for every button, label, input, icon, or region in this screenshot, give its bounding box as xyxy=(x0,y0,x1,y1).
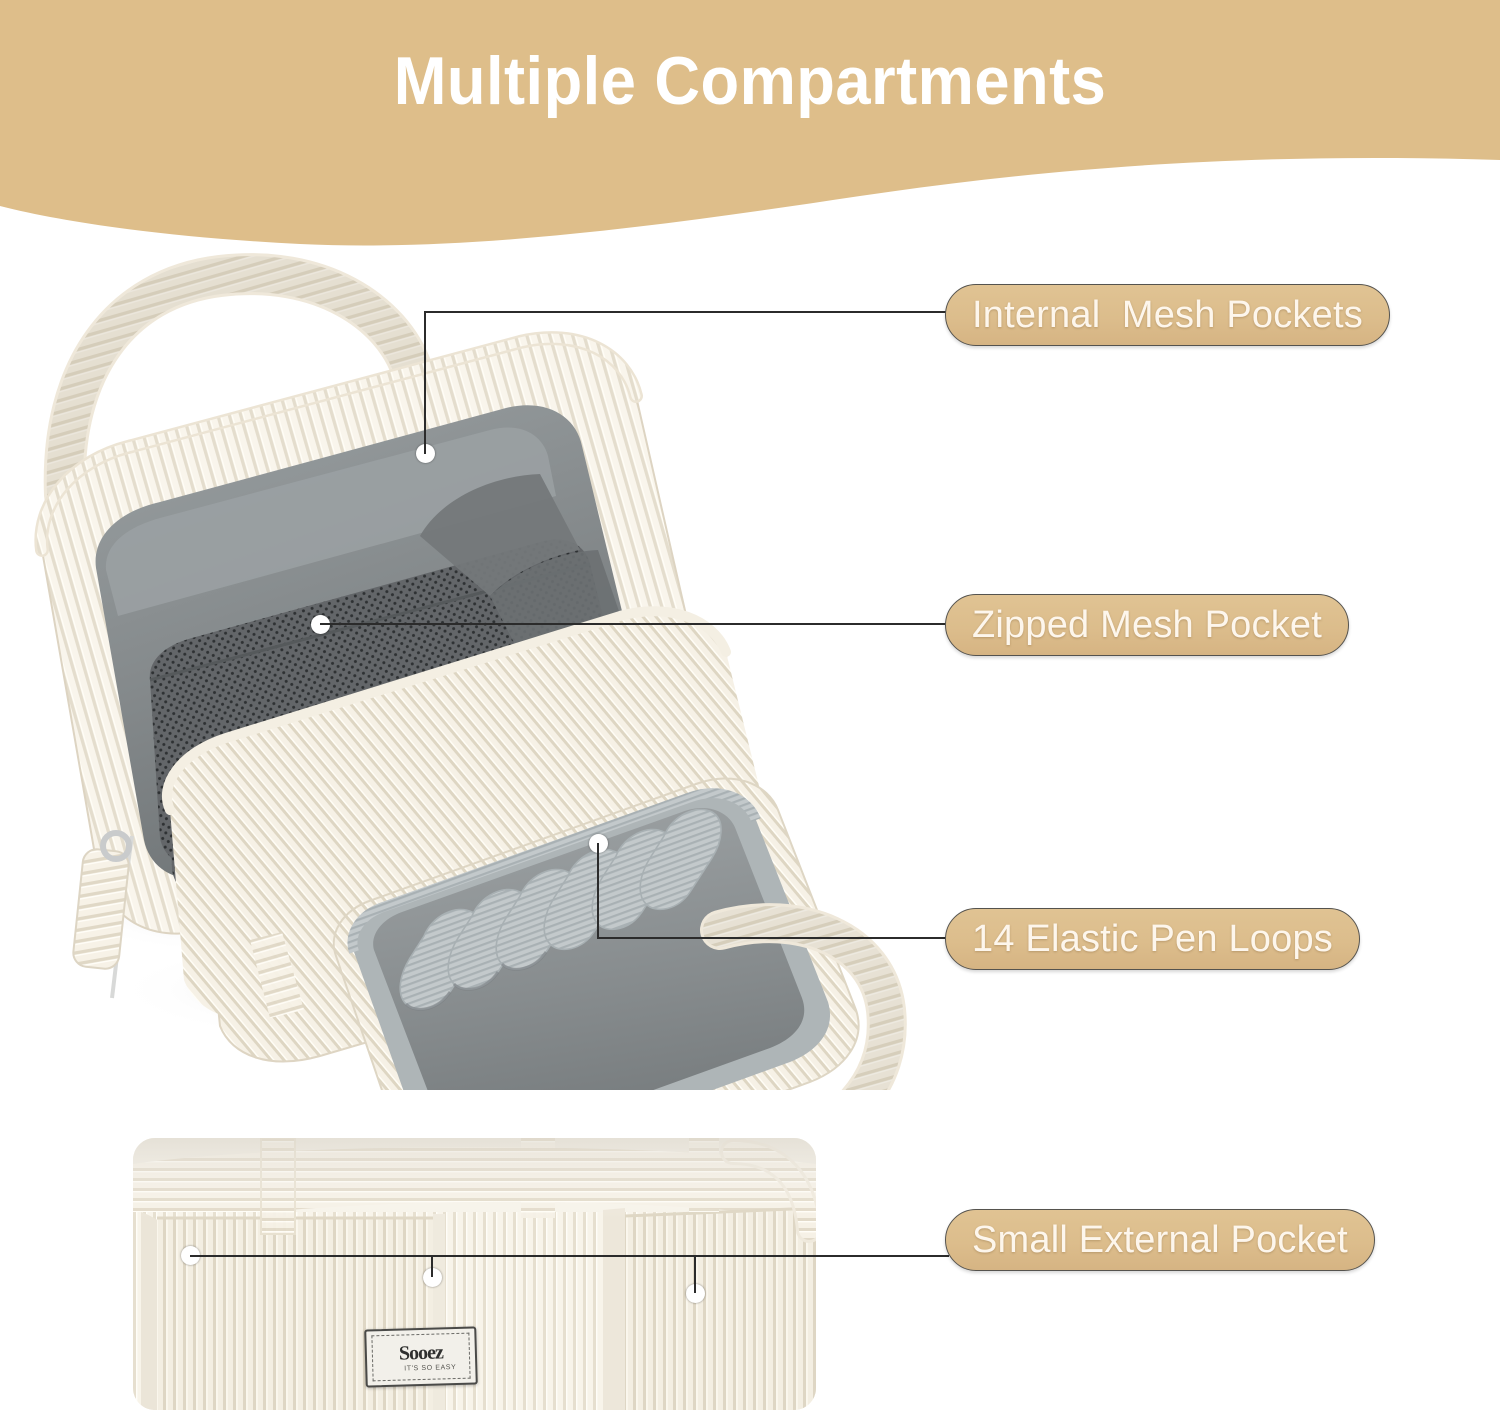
leader-line-horizontal-pen-loops xyxy=(597,937,949,939)
zipper-tab-left xyxy=(72,833,132,998)
brand-tagline: IT'S SO EASY xyxy=(404,1364,456,1372)
brand-name: Sooez xyxy=(399,1342,443,1363)
callout-label-text: Internal Mesh Pockets xyxy=(972,294,1363,337)
page-title: Multiple Compartments xyxy=(53,42,1448,120)
callout-label-elastic-pen-loops[interactable]: 14 Elastic Pen Loops xyxy=(945,908,1360,970)
leader-line-horizontal-zipped-mesh xyxy=(320,623,949,625)
callout-label-text: Small External Pocket xyxy=(972,1219,1348,1262)
product-photo-open-case xyxy=(20,250,920,1090)
callout-label-text: 14 Elastic Pen Loops xyxy=(972,918,1333,961)
callout-label-zipped-mesh-pocket[interactable]: Zipped Mesh Pocket xyxy=(945,594,1349,656)
infographic-page: Multiple Compartments xyxy=(0,0,1500,1416)
brand-logo-inner: Sooez IT'S SO EASY xyxy=(371,1333,470,1382)
leader-line-vertical-internal-mesh xyxy=(424,312,426,454)
header-banner: Multiple Compartments xyxy=(0,0,1500,250)
leader-line-vertical-external-pocket-2 xyxy=(431,1255,433,1277)
leader-line-vertical-pen-loops xyxy=(597,843,599,939)
callout-label-internal-mesh-pockets[interactable]: Internal Mesh Pockets xyxy=(945,284,1390,346)
open-case-illustration xyxy=(20,250,920,1090)
callout-label-text: Zipped Mesh Pocket xyxy=(972,604,1322,647)
brand-logo-patch: Sooez IT'S SO EASY xyxy=(364,1326,478,1387)
banner-wave-shape xyxy=(0,0,1500,250)
callout-label-small-external-pocket[interactable]: Small External Pocket xyxy=(945,1209,1375,1271)
leader-line-horizontal-internal-mesh xyxy=(424,311,949,313)
leader-line-horizontal-external-pocket xyxy=(190,1255,949,1257)
leader-line-vertical-external-pocket-3 xyxy=(694,1255,696,1293)
